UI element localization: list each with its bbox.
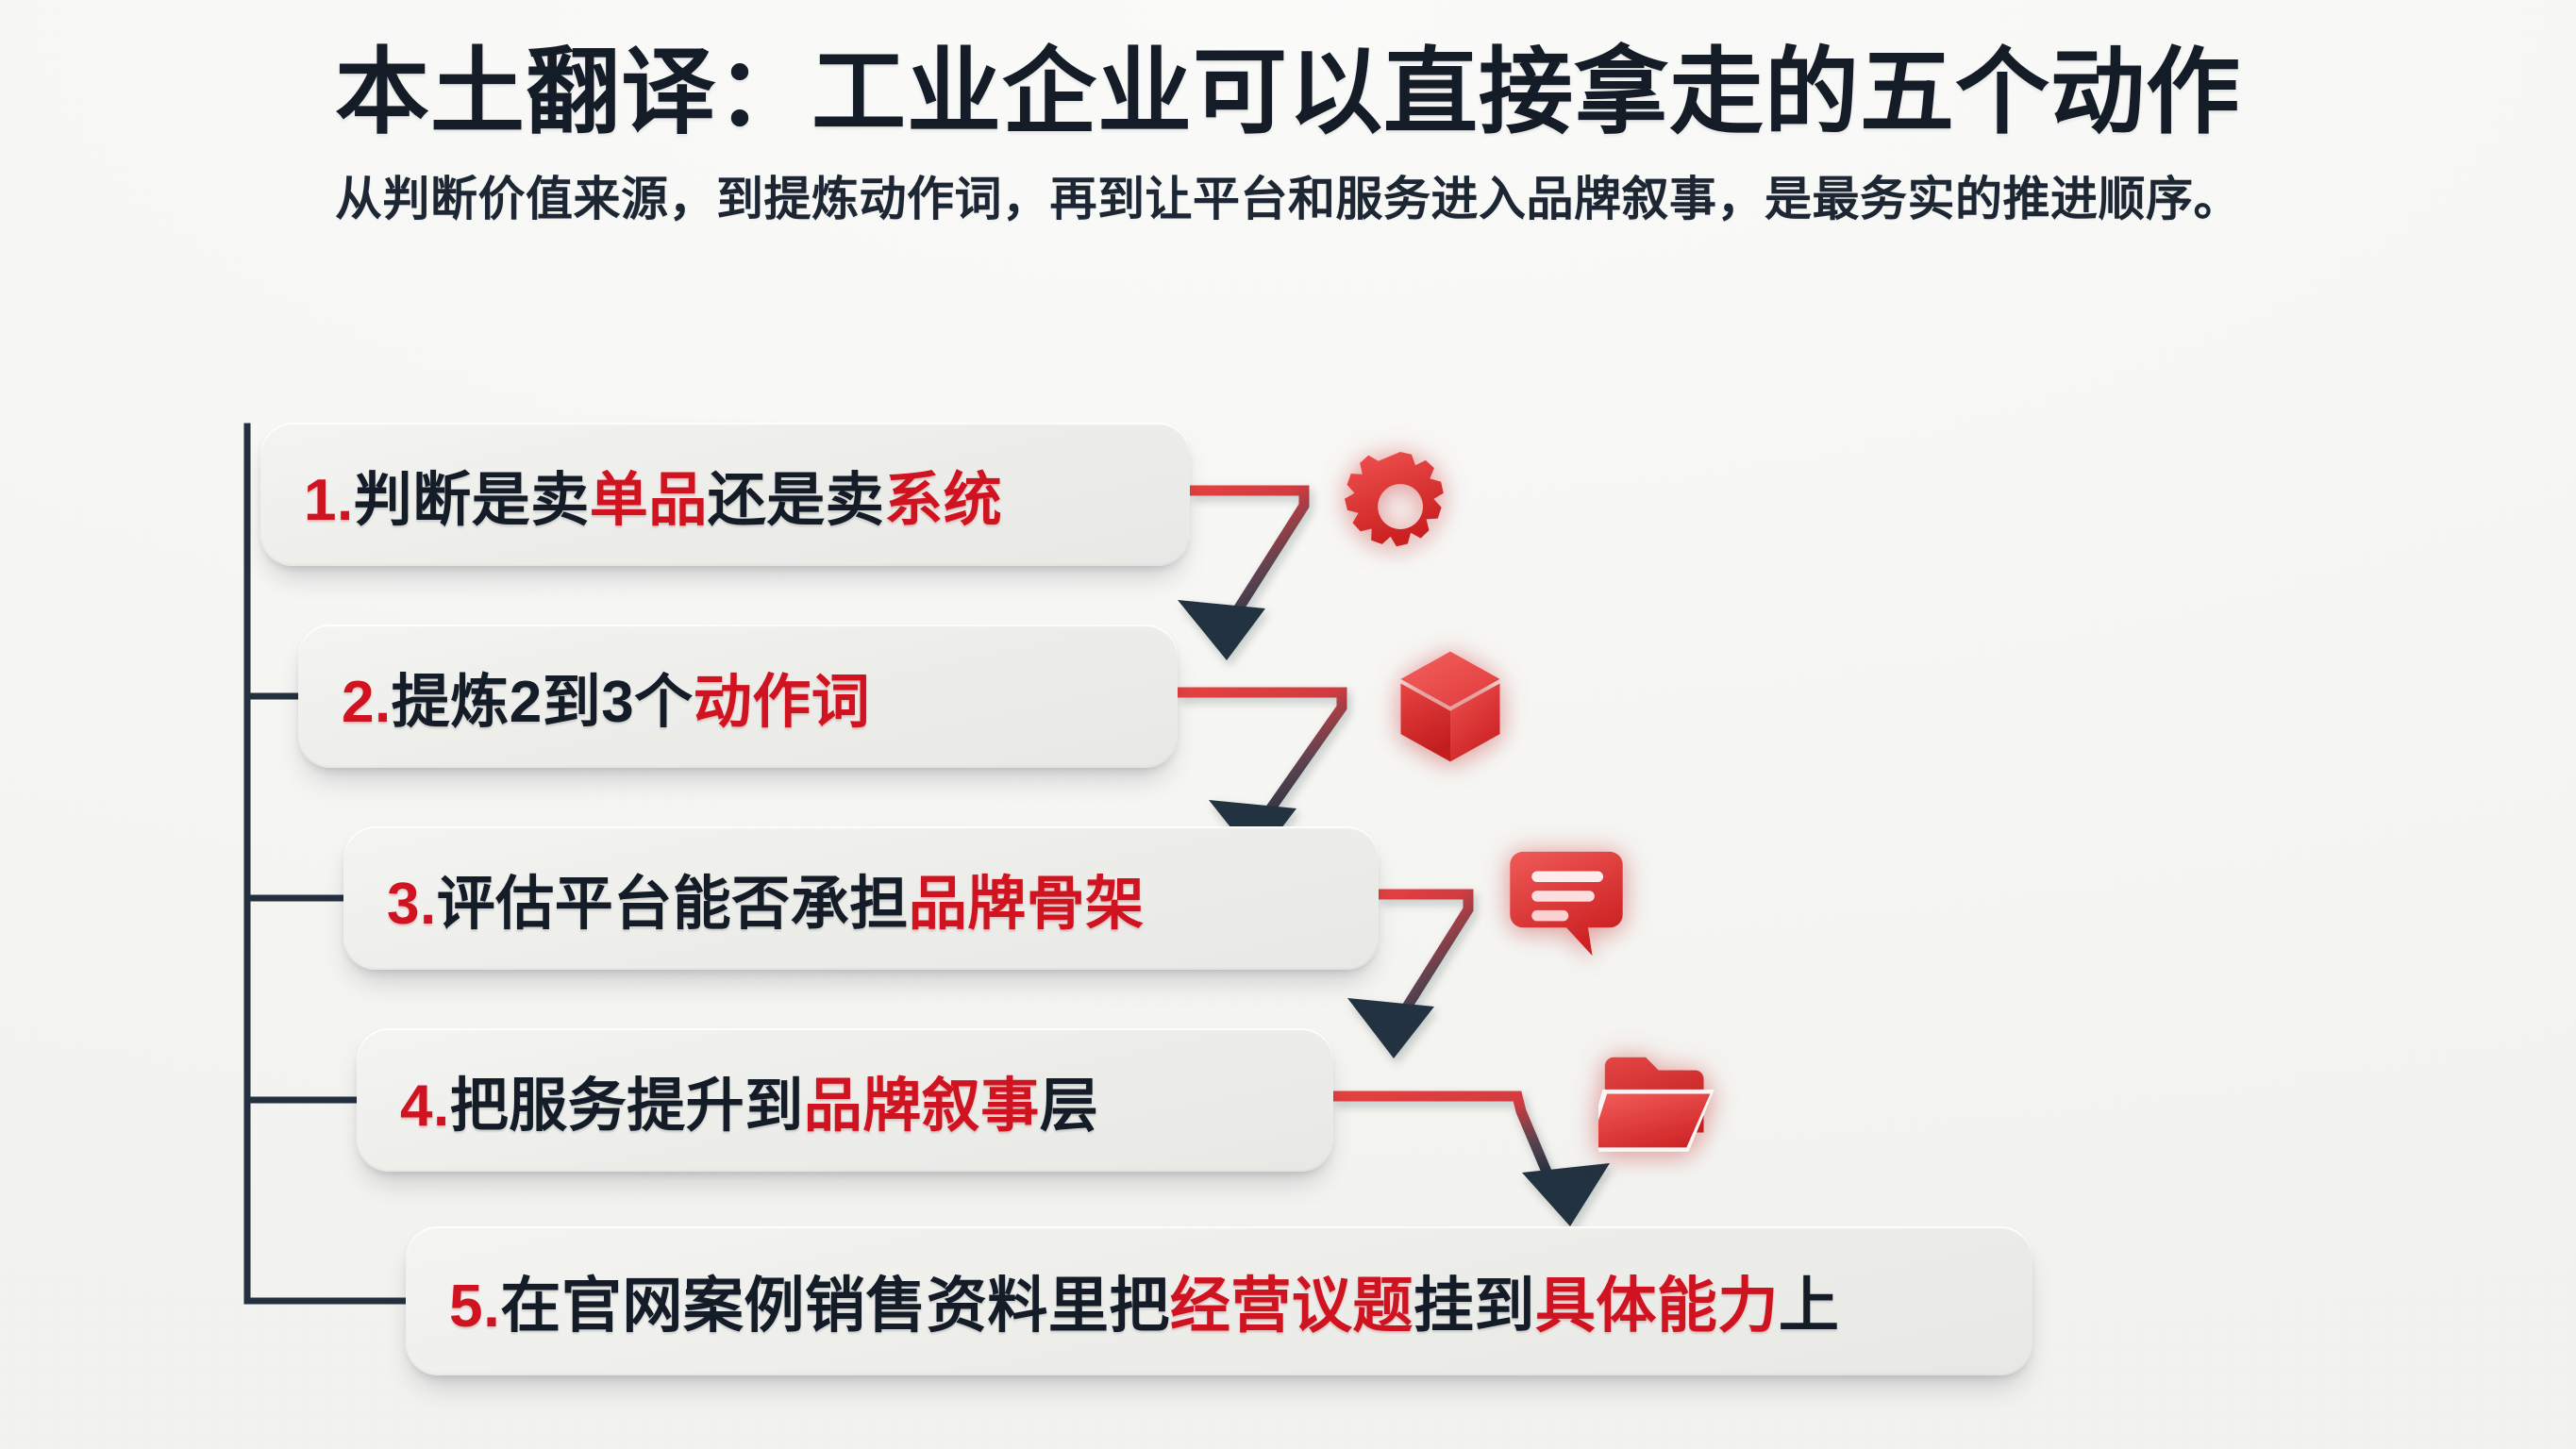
step-4-seg-0: 把服务提升到: [450, 1074, 804, 1139]
page-subtitle: 从判断价值来源，到提炼动作词，再到让平台和服务进入品牌叙事，是最务实的推进顺序。: [0, 145, 2576, 229]
arrow-step-4-to-5: [1333, 1096, 1610, 1226]
step-3-seg-0: 评估平台能否承担: [437, 872, 909, 937]
page-title: 本土翻译：工业企业可以直接拿走的五个动作: [0, 0, 2576, 145]
step-card-2[interactable]: 2.提炼2到3个动作词: [298, 625, 1178, 768]
step-1-seg-1: 单品: [590, 468, 708, 533]
chat-bubble-icon: [1508, 847, 1625, 960]
step-5-seg-0: 在官网案例销售资料里把: [500, 1272, 1170, 1340]
step-4-seg-2: 层: [1040, 1074, 1099, 1139]
step-5-seg-1: 经营议题: [1170, 1272, 1413, 1340]
step-3-number: 3.: [387, 872, 437, 937]
step-2-seg-1: 动作词: [694, 670, 871, 735]
step-1-seg-3: 系统: [884, 468, 1002, 533]
step-card-5[interactable]: 5.在官网案例销售资料里把经营议题挂到具体能力上: [406, 1226, 2032, 1375]
step-5-seg-3: 具体能力: [1535, 1272, 1779, 1340]
folder-icon: [1598, 1053, 1723, 1158]
step-card-1[interactable]: 1.判断是卖单品还是卖系统: [260, 423, 1190, 566]
step-1-text: 1.判断是卖单品还是卖系统: [304, 452, 1002, 537]
step-4-seg-1: 品牌叙事: [804, 1074, 1040, 1139]
header: 本土翻译：工业企业可以直接拿走的五个动作 从判断价值来源，到提炼动作词，再到让平…: [0, 0, 2576, 229]
step-5-text: 5.在官网案例销售资料里把经营议题挂到具体能力上: [449, 1257, 1839, 1344]
step-card-4[interactable]: 4.把服务提升到品牌叙事层: [357, 1028, 1333, 1172]
cube-icon: [1395, 647, 1506, 766]
step-1-seg-0: 判断是卖: [354, 468, 590, 533]
step-3-seg-1: 品牌骨架: [909, 872, 1145, 937]
step-5-number: 5.: [449, 1272, 500, 1340]
step-5-seg-4: 上: [1779, 1272, 1840, 1340]
step-3-text: 3.评估平台能否承担品牌骨架: [387, 856, 1145, 941]
step-4-text: 4.把服务提升到品牌叙事层: [400, 1058, 1098, 1142]
step-5-seg-2: 挂到: [1413, 1272, 1535, 1340]
step-1-seg-2: 还是卖: [708, 468, 885, 533]
step-card-3[interactable]: 3.评估平台能否承担品牌骨架: [343, 826, 1379, 970]
arrow-step-1-to-2: [1178, 491, 1304, 660]
step-2-seg-0: 提炼2到3个: [392, 670, 694, 735]
gear-icon: [1341, 447, 1460, 566]
step-4-number: 4.: [400, 1074, 450, 1139]
step-1-number: 1.: [304, 468, 354, 533]
step-2-text: 2.提炼2到3个动作词: [342, 654, 870, 739]
step-2-number: 2.: [342, 670, 392, 735]
